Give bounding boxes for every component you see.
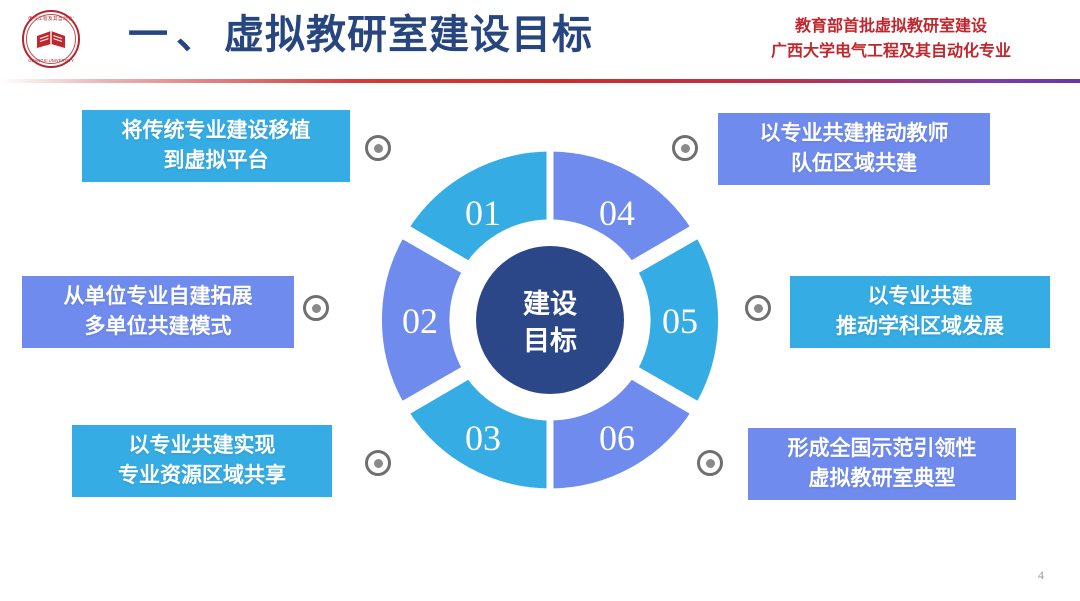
connector-ring-icon-04 <box>672 135 698 161</box>
callout-01-line-1: 将传统专业建设移植 <box>122 116 311 146</box>
slide-header: 电气工程及其自动化专业 GUANGXI UNIVERSITY 一、虚拟教研室建设… <box>0 0 1080 82</box>
callout-05-line-2: 推动学科区域发展 <box>836 312 1004 342</box>
callout-box-05[interactable]: 以专业共建 推动学科区域发展 <box>790 276 1050 348</box>
wheel-segment-label-03: 03 <box>465 418 501 458</box>
wheel-segment-label-01: 01 <box>465 193 501 233</box>
title-section-number: 一、 <box>128 13 224 57</box>
title-text: 虚拟教研室建设目标 <box>224 13 593 57</box>
wheel-hub <box>476 246 624 394</box>
university-logo: 电气工程及其自动化专业 GUANGXI UNIVERSITY <box>14 6 86 74</box>
wheel-svg: 建设 目标 01 02 03 04 05 06 <box>370 140 730 500</box>
header-divider <box>0 79 1080 83</box>
header-subtitle-line-1: 教育部首批虚拟教研室建设 <box>726 14 1056 39</box>
callout-04-line-1: 以专业共建推动教师 <box>760 119 949 149</box>
wheel-segment-label-02: 02 <box>402 301 438 341</box>
connector-ring-icon-03 <box>365 450 391 476</box>
wheel-segment-label-04: 04 <box>599 193 635 233</box>
slide: 电气工程及其自动化专业 GUANGXI UNIVERSITY 一、虚拟教研室建设… <box>0 0 1080 601</box>
callout-box-02[interactable]: 从单位专业自建拓展 多单位共建模式 <box>22 276 294 348</box>
callout-05-line-1: 以专业共建 <box>868 282 973 312</box>
logo-arc-bottom-text: GUANGXI UNIVERSITY <box>28 58 74 63</box>
goals-wheel-diagram: 建设 目标 01 02 03 04 05 06 <box>370 140 730 500</box>
wheel-segment-label-05: 05 <box>662 301 698 341</box>
callout-06-line-2: 虚拟教研室典型 <box>809 464 956 494</box>
logo-arc-top-text: 电气工程及其自动化专业 <box>28 16 74 21</box>
callout-02-line-1: 从单位专业自建拓展 <box>64 282 253 312</box>
open-book-icon <box>35 27 67 51</box>
header-subtitle-block: 教育部首批虚拟教研室建设 广西大学电气工程及其自动化专业 <box>726 14 1056 64</box>
page-title: 一、虚拟教研室建设目标 <box>128 8 593 62</box>
callout-03-line-2: 专业资源区域共享 <box>118 461 286 491</box>
connector-ring-icon-01 <box>365 135 391 161</box>
callout-box-01[interactable]: 将传统专业建设移植 到虚拟平台 <box>82 110 350 182</box>
callout-box-06[interactable]: 形成全国示范引领性 虚拟教研室典型 <box>748 428 1016 500</box>
wheel-segment-label-06: 06 <box>599 418 635 458</box>
callout-02-line-2: 多单位共建模式 <box>85 312 232 342</box>
callout-box-04[interactable]: 以专业共建推动教师 队伍区域共建 <box>718 113 990 185</box>
connector-ring-icon-02 <box>303 295 329 321</box>
page-number: 4 <box>1038 568 1044 583</box>
callout-03-line-1: 以专业共建实现 <box>129 431 276 461</box>
callout-06-line-1: 形成全国示范引领性 <box>788 434 977 464</box>
wheel-hub-line-2: 目标 <box>523 326 577 356</box>
connector-ring-icon-05 <box>745 295 771 321</box>
callout-box-03[interactable]: 以专业共建实现 专业资源区域共享 <box>72 425 332 497</box>
wheel-hub-line-1: 建设 <box>523 289 577 319</box>
header-subtitle-line-2: 广西大学电气工程及其自动化专业 <box>726 39 1056 64</box>
callout-04-line-2: 队伍区域共建 <box>791 149 917 179</box>
callout-01-line-2: 到虚拟平台 <box>164 146 269 176</box>
connector-ring-icon-06 <box>697 450 723 476</box>
